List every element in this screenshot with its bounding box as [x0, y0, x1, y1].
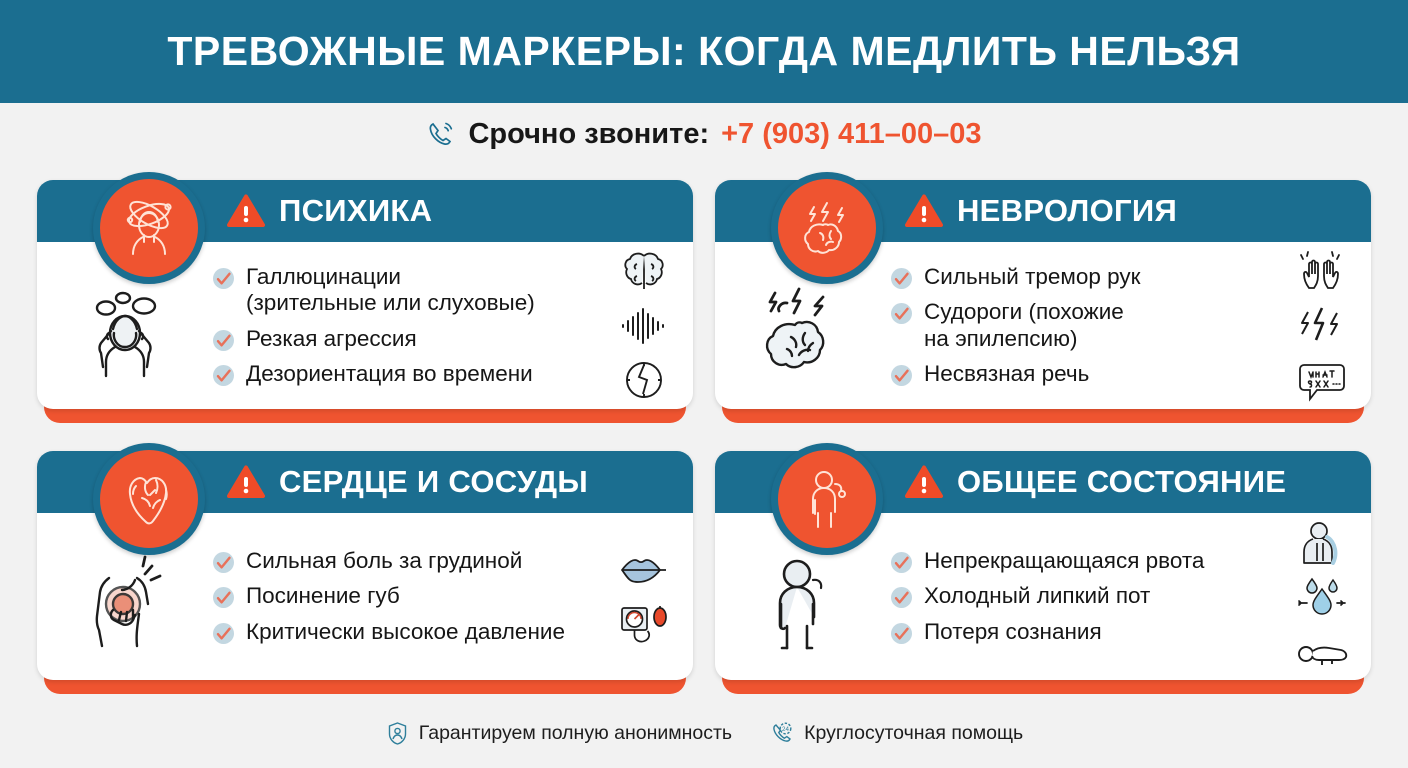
page-banner: ТРЕВОЖНЫЕ МАРКЕРЫ: КОГДА МЕДЛИТЬ НЕЛЬЗЯ: [0, 0, 1408, 103]
standing-person-icon: [715, 538, 890, 656]
check-icon: [212, 267, 235, 290]
list-item-label: Потеря сознания: [924, 619, 1102, 645]
card-title: ПСИХИКА: [279, 193, 432, 229]
check-icon: [212, 586, 235, 609]
card-psyche: ПСИХИКА: [37, 180, 693, 423]
call-to-action-row: Срочно звоните: +7 (903) 411–00–03: [0, 103, 1408, 165]
symptom-cards-grid: ПСИХИКА: [37, 180, 1371, 694]
footer-item-label: Круглосуточная помощь: [804, 722, 1023, 745]
warning-triangle-icon: [227, 194, 265, 228]
list-item: Резкая агрессия: [212, 326, 595, 352]
card-side-icons: [601, 548, 693, 646]
heart-icon: [93, 443, 205, 555]
footer-item-24h: 24 Круглосуточная помощь: [770, 721, 1023, 746]
phone-number[interactable]: +7 (903) 411–00–03: [721, 118, 981, 151]
shaking-hands-icon: [1295, 250, 1349, 294]
list-item-label: Посинение губ: [246, 583, 400, 609]
footer-item-label: Гарантируем полную анонимность: [419, 722, 732, 745]
phone-ringing-icon: [426, 119, 456, 149]
svg-text:24: 24: [782, 726, 789, 733]
person-nausea-icon: [771, 443, 883, 555]
blood-pressure-monitor-icon: [617, 602, 671, 646]
list-item-label: Дезориентация во времени: [246, 361, 533, 387]
card-title: НЕВРОЛОГИЯ: [957, 193, 1177, 229]
page-footer: Гарантируем полную анонимность 24 Кругло…: [0, 721, 1408, 746]
phone-24h-icon: 24: [770, 721, 795, 746]
list-item-label: Сильный тремор рук: [924, 264, 1141, 290]
unconscious-person-icon: [1295, 629, 1349, 673]
list-item: Сильная боль за грудиной: [212, 548, 595, 574]
list-item-label: Критически высокое давление: [246, 619, 565, 645]
check-icon: [890, 622, 913, 645]
bullet-list: Галлюцинации (зрительные или слуховые) Р…: [212, 264, 601, 387]
brain-top-icon: [617, 250, 671, 294]
sound-wave-icon: [617, 304, 671, 348]
page-title: ТРЕВОЖНЫЕ МАРКЕРЫ: КОГДА МЕДЛИТЬ НЕЛЬЗЯ: [167, 28, 1240, 75]
vomiting-person-icon: [1295, 521, 1349, 565]
list-item-label: Галлюцинации (зрительные или слуховые): [246, 264, 535, 317]
list-item: Галлюцинации (зрительные или слуховые): [212, 264, 595, 317]
list-item: Холодный липкий пот: [890, 583, 1273, 609]
lightning-bolts-icon: [1295, 304, 1349, 348]
warning-triangle-icon: [227, 465, 265, 499]
brain-lightning-icon: [715, 267, 890, 385]
card-neurology: НЕВРОЛОГИЯ Сильный: [715, 180, 1371, 423]
check-icon: [890, 551, 913, 574]
list-item-label: Холодный липкий пот: [924, 583, 1150, 609]
confused-head-icon: [93, 172, 205, 284]
card-side-icons: [1279, 521, 1371, 673]
bullet-list: Сильный тремор рук Судороги (похожие на …: [890, 264, 1279, 387]
card-heart: СЕРДЦЕ И СОСУДЫ: [37, 451, 693, 694]
cracked-clock-icon: [617, 358, 671, 402]
warning-triangle-icon: [905, 194, 943, 228]
list-item-label: Судороги (похожие на эпилепсию): [924, 299, 1124, 352]
list-item-label: Сильная боль за грудиной: [246, 548, 522, 574]
check-icon: [212, 329, 235, 352]
garbled-speech-icon: [1295, 358, 1349, 402]
brain-shock-icon: [771, 172, 883, 284]
shield-person-icon: [385, 721, 410, 746]
list-item-label: Несвязная речь: [924, 361, 1089, 387]
card-title: ОБЩЕЕ СОСТОЯНИЕ: [957, 464, 1286, 500]
list-item: Посинение губ: [212, 583, 595, 609]
stressed-person-icon: [37, 267, 212, 385]
check-icon: [890, 586, 913, 609]
list-item: Непрекращающаяся рвота: [890, 548, 1273, 574]
bullet-list: Сильная боль за грудиной Посинение губ: [212, 548, 601, 645]
list-item: Дезориентация во времени: [212, 361, 595, 387]
bullet-list: Непрекращающаяся рвота Холодный липкий п…: [890, 548, 1279, 645]
check-icon: [212, 551, 235, 574]
card-side-icons: [1279, 250, 1371, 402]
card-general: ОБЩЕЕ СОСТОЯНИЕ: [715, 451, 1371, 694]
sweat-drops-icon: [1295, 575, 1349, 619]
list-item: Судороги (похожие на эпилепсию): [890, 299, 1273, 352]
list-item-label: Непрекращающаяся рвота: [924, 548, 1204, 574]
chest-pain-icon: [37, 538, 212, 656]
card-side-icons: [601, 250, 693, 402]
call-label: Срочно звоните:: [468, 118, 709, 151]
blue-lips-icon: [617, 548, 671, 592]
list-item: Несвязная речь: [890, 361, 1273, 387]
check-icon: [212, 364, 235, 387]
check-icon: [890, 364, 913, 387]
list-item: Сильный тремор рук: [890, 264, 1273, 290]
check-icon: [890, 302, 913, 325]
check-icon: [212, 622, 235, 645]
footer-item-anonymity: Гарантируем полную анонимность: [385, 721, 732, 746]
list-item-label: Резкая агрессия: [246, 326, 417, 352]
card-title: СЕРДЦЕ И СОСУДЫ: [279, 464, 588, 500]
warning-triangle-icon: [905, 465, 943, 499]
list-item: Критически высокое давление: [212, 619, 595, 645]
check-icon: [890, 267, 913, 290]
list-item: Потеря сознания: [890, 619, 1273, 645]
